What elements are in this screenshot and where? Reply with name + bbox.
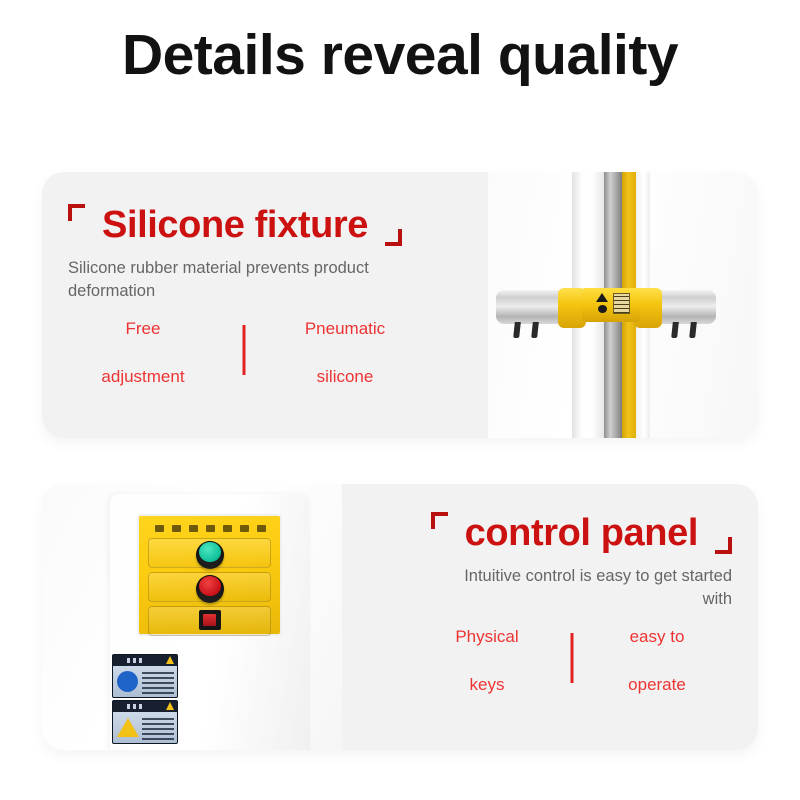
feature-item: easy to operate [582, 628, 732, 693]
panel-glyph-icon [257, 525, 266, 532]
card-text-silicone-fixture: Silicone fixture Silicone rubber materia… [68, 172, 488, 438]
page-title: Details reveal quality [0, 24, 800, 87]
feature-label-line-1: Pneumatic [270, 320, 420, 337]
machine-sticker-label [112, 700, 178, 744]
silicone-fixture-clamp-photo [488, 172, 758, 438]
feature-label-line-2: operate [582, 676, 732, 693]
corner-bracket-top-left-icon [431, 512, 448, 529]
card-subtitle: Silicone rubber material prevents produc… [68, 257, 398, 304]
sticker-header [113, 655, 177, 666]
card-subtitle: Intuitive control is easy to get started… [432, 565, 732, 612]
control-panel-face [137, 514, 282, 636]
heading-bracket-group: control panel [431, 512, 732, 556]
feature-label-line-2: keys [412, 676, 562, 693]
feature-label-line-1: Free [68, 320, 218, 337]
sticker-text-dots [127, 704, 143, 709]
power-rocker-switch[interactable] [199, 610, 221, 630]
feature-card-control-panel: control panel Intuitive control is easy … [42, 484, 758, 750]
sticker-body [113, 712, 177, 744]
corner-bracket-top-left-icon [68, 204, 85, 221]
card-text-control-panel: control panel Intuitive control is easy … [312, 484, 732, 750]
clamp-center-block [582, 288, 640, 322]
sticker-text-dots [127, 658, 143, 663]
blue-circle-icon [117, 671, 138, 692]
feature-item: Free adjustment [68, 320, 218, 385]
feature-label-line-2: adjustment [68, 368, 218, 385]
machine-sticker-label [112, 654, 178, 698]
feature-label-line-2: silicone [270, 368, 420, 385]
clamp-pin [689, 322, 697, 338]
machine-body [110, 494, 310, 750]
feature-divider [571, 633, 574, 683]
clamp-arm-left [496, 290, 562, 324]
sticker-text-lines [142, 716, 174, 740]
panel-glyph-icon [206, 525, 215, 532]
panel-icon-strip [155, 524, 266, 533]
panel-glyph-icon [223, 525, 232, 532]
warning-triangle-icon [166, 702, 174, 710]
clamp-spec-label [613, 293, 630, 314]
sticker-header [113, 701, 177, 712]
sticker-body [113, 666, 177, 698]
panel-glyph-icon [172, 525, 181, 532]
clamp-indicator-dot [598, 305, 607, 313]
feature-divider [243, 325, 246, 375]
card-heading: Silicone fixture [102, 204, 368, 248]
clamp-pin [513, 322, 521, 338]
feature-card-silicone-fixture: Silicone fixture Silicone rubber materia… [42, 172, 758, 438]
start-button-green[interactable] [196, 541, 224, 569]
warning-triangle-icon [596, 293, 608, 302]
feature-item: Physical keys [412, 628, 562, 693]
stop-button-red[interactable] [196, 575, 224, 603]
heading-bracket-group: Silicone fixture [68, 204, 402, 248]
panel-glyph-icon [240, 525, 249, 532]
corner-bracket-bottom-right-icon [715, 537, 732, 554]
sticker-text-lines [142, 670, 174, 694]
corner-bracket-bottom-right-icon [385, 229, 402, 246]
feature-list: Physical keys easy to operate [412, 628, 732, 712]
warning-triangle-icon [166, 656, 174, 664]
panel-glyph-icon [189, 525, 198, 532]
page-root: Details reveal quality [0, 0, 800, 800]
clamp-pin [531, 322, 539, 338]
card-heading: control panel [465, 512, 698, 556]
clamp-pin [671, 322, 679, 338]
feature-list: Free adjustment Pneumatic silicone [68, 320, 420, 404]
warning-triangle-icon [117, 718, 139, 737]
feature-label-line-1: Physical [412, 628, 562, 645]
panel-glyph-icon [155, 525, 164, 532]
control-panel-photo [42, 484, 342, 750]
feature-item: Pneumatic silicone [270, 320, 420, 385]
feature-label-line-1: easy to [582, 628, 732, 645]
